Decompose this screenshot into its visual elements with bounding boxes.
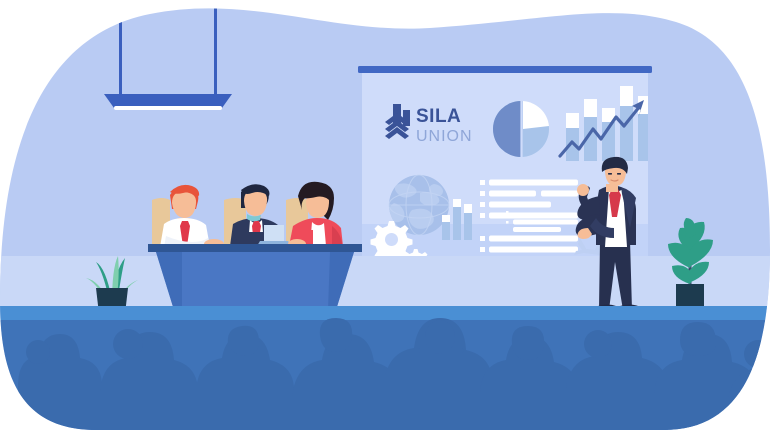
lamp-glow <box>114 106 222 110</box>
globe-graphic <box>389 175 449 235</box>
lamp-rod-right <box>214 0 217 94</box>
panel-group <box>152 182 343 249</box>
desk-top-edge <box>148 244 362 252</box>
lamp-shade <box>104 94 232 108</box>
pie-chart <box>493 101 549 157</box>
logo-brand-top: SILA <box>416 106 461 127</box>
desk-front-panel <box>156 252 354 310</box>
lamp-rod-left <box>119 14 122 94</box>
illustration-canvas: SILA UNION <box>0 0 770 430</box>
panel-desk[interactable] <box>148 244 362 310</box>
laptop-screen <box>264 225 284 241</box>
logo-brand-bottom: UNION <box>416 128 473 145</box>
eye-left <box>608 173 612 175</box>
eye-right <box>617 173 621 175</box>
hand-raised <box>577 184 589 196</box>
pie-divider <box>520 101 522 157</box>
screen-top-bar <box>358 66 652 73</box>
floor-light-band <box>0 306 770 322</box>
plant-pot <box>676 284 704 308</box>
scene-svg: SILA UNION <box>0 0 770 430</box>
